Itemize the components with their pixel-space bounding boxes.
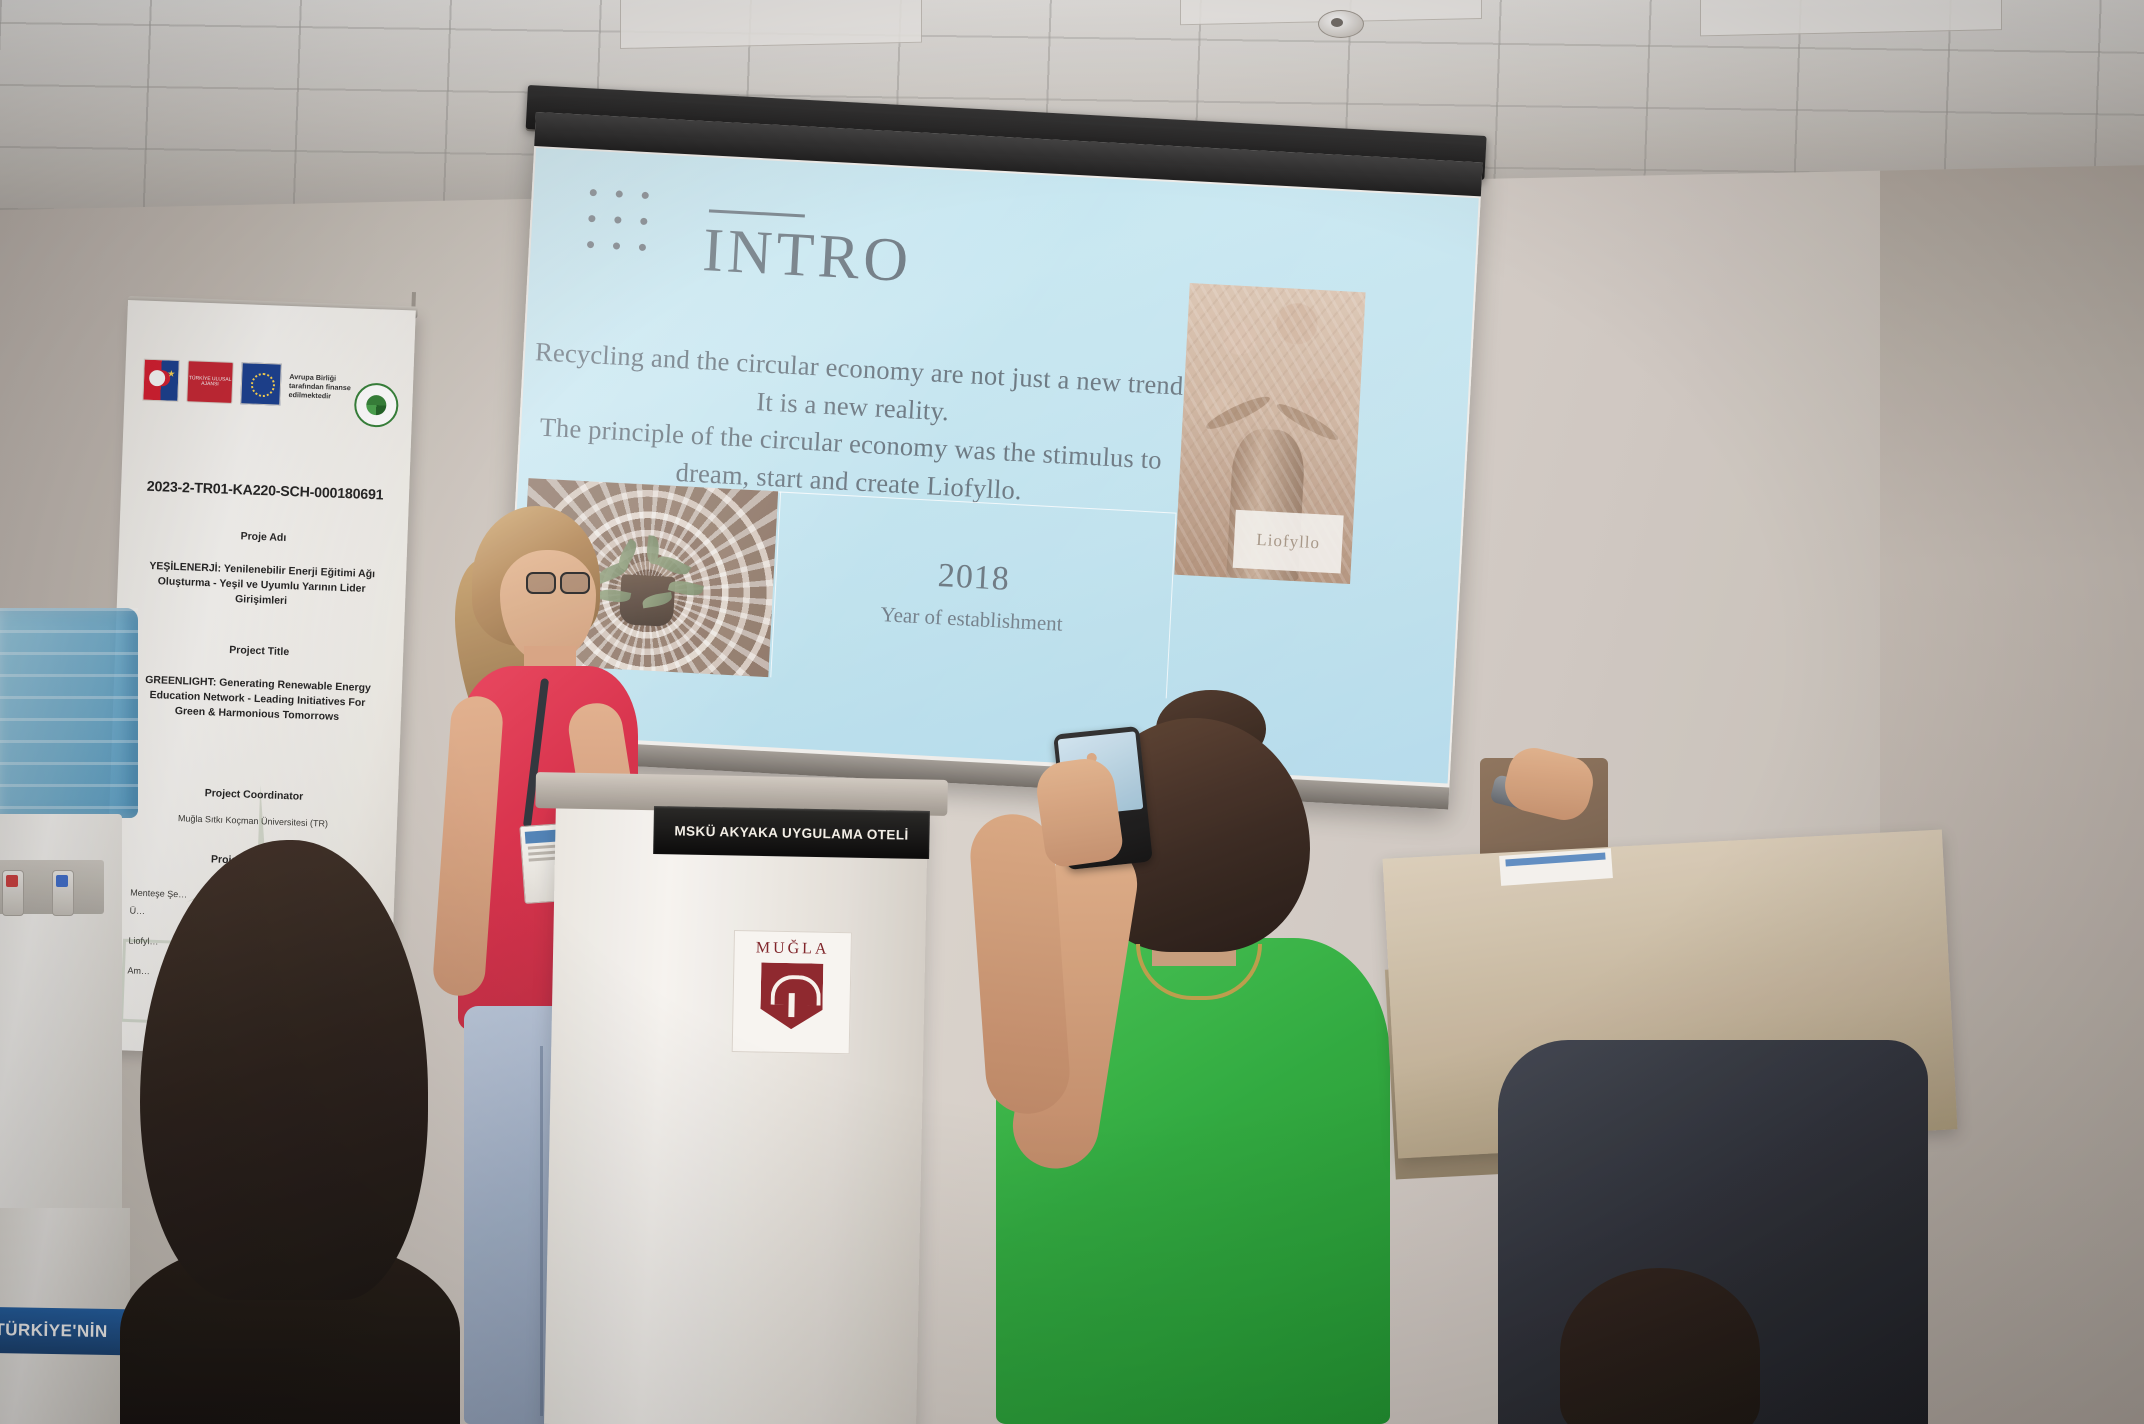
audience-right-head [1560, 1268, 1760, 1424]
banner-project-title-en: GREENLIGHT: Generating Renewable Energy … [135, 673, 380, 727]
smoke-detector-icon [1318, 10, 1364, 38]
slide-heading: INTRO [701, 219, 913, 292]
banner-project-name-tr: YEŞİLENERJİ: Yenilenebilir Enerji Eğitim… [139, 559, 384, 613]
bottle-ridges [0, 608, 138, 818]
mugla-emblem-shield [760, 963, 823, 1030]
hot-water-tap[interactable] [2, 870, 24, 916]
olive-tree-photo: Liofyllo [1174, 283, 1365, 584]
year-label: Year of establishment [880, 602, 1063, 637]
audience-right-area [1420, 720, 2144, 1424]
audience-member-filming [960, 690, 1390, 1424]
eyeglasses-icon [526, 572, 588, 592]
water-bottle [0, 608, 138, 818]
banner-project-code: 2023-2-TR01-KA220-SCH-000180691 [121, 478, 409, 505]
mugla-emblem-text: MUĞLA [756, 939, 830, 958]
podium [544, 800, 928, 1424]
water-brand-text: TÜRKİYE'NİN [0, 1320, 108, 1342]
cold-water-tap[interactable] [52, 870, 74, 916]
audience-member-left [140, 840, 440, 1424]
liofyllo-logo: Liofyllo [1233, 510, 1344, 574]
liofyllo-logo-text: Liofyllo [1256, 530, 1321, 553]
water-brand-label: TÜRKİYE'NİN [0, 1307, 126, 1356]
national-agency-logo-icon: TÜRKİYE ULUSAL AJANSI [186, 360, 234, 404]
year-of-establishment-block: 2018 Year of establishment [770, 492, 1175, 699]
ceiling-light-panel [1700, 0, 2002, 36]
eu-flag-icon [240, 362, 282, 405]
banner-logos: TÜRKİYE ULUSAL AJANSI Avrupa Birliği tar… [142, 359, 367, 409]
year-value: 2018 [937, 557, 1011, 599]
mugla-emblem: MUĞLA [732, 930, 852, 1054]
podium-sign-text: MSKÜ AKYAKA UYGULAMA OTELİ [674, 823, 908, 842]
podium-sign: MSKÜ AKYAKA UYGULAMA OTELİ [653, 806, 930, 859]
audience-left-hair [140, 840, 428, 1300]
presentation-room-scene: INTRO Recycling and the circular economy… [0, 0, 2144, 1424]
mugla-university-logo-icon [354, 382, 400, 428]
dot-grid-icon [587, 189, 652, 254]
turkey-eu-flag-icon [142, 359, 180, 402]
banner-label-project-name: Proje Adı [119, 526, 407, 549]
ceiling-light-panel [620, 0, 922, 49]
